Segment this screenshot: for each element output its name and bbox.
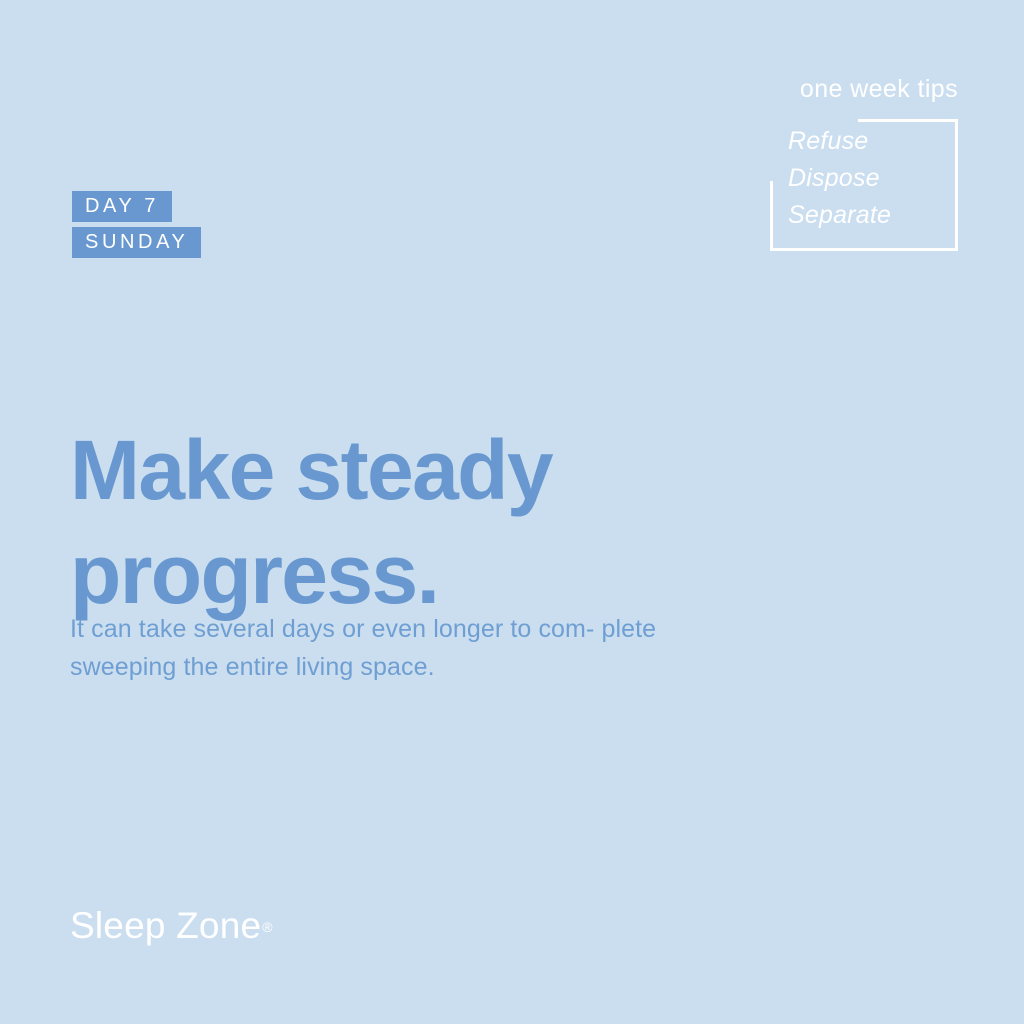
brand-logo: Sleep Zone® [70, 905, 273, 947]
tips-frame-top-edge [858, 119, 958, 122]
day-number-badge: DAY 7 [72, 191, 172, 222]
headline: Make steady progress. [70, 418, 730, 626]
weekday-badge-row: SUNDAY [72, 227, 201, 258]
tip-item-refuse: Refuse [788, 123, 968, 160]
tips-frame: Refuse Dispose Separate [770, 119, 958, 251]
tips-frame-left-edge [770, 181, 773, 251]
day-badge-group: DAY 7 SUNDAY [72, 191, 201, 258]
tips-heading: one week tips [800, 74, 958, 104]
tip-item-separate: Separate [788, 197, 968, 234]
body-copy: It can take several days or even longer … [70, 610, 710, 686]
brand-wordmark: Sleep Zone [70, 905, 261, 946]
day-number-badge-row: DAY 7 [72, 191, 201, 222]
poster-canvas: one week tips Refuse Dispose Separate DA… [0, 0, 1024, 1024]
tips-list: Refuse Dispose Separate [788, 123, 968, 234]
registered-trademark-icon: ® [262, 919, 272, 935]
tips-frame-bottom-edge [770, 248, 958, 251]
weekday-badge: SUNDAY [72, 227, 201, 258]
body-copy-line-1: It can take several days or even longer … [70, 615, 594, 643]
tip-item-dispose: Dispose [788, 160, 968, 197]
one-week-tips-block: one week tips Refuse Dispose Separate [700, 74, 970, 264]
